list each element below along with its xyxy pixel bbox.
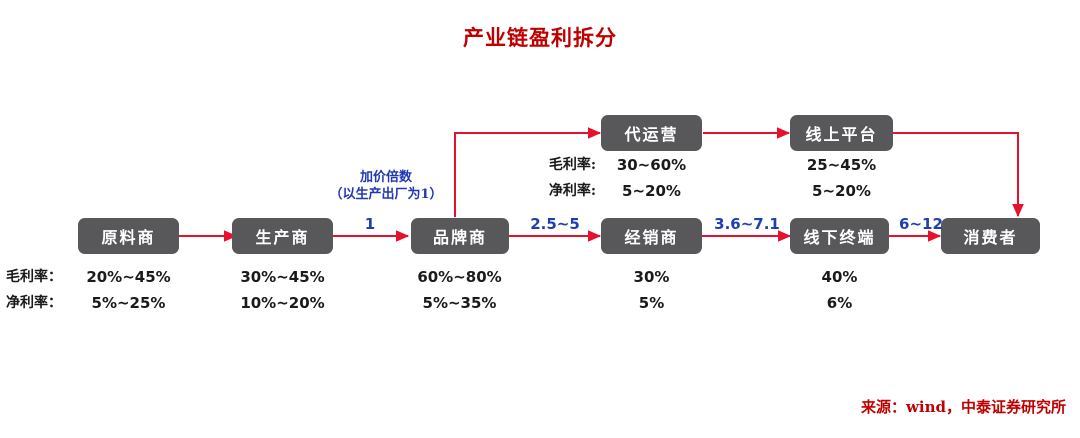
node-raw-material[interactable]: 原料商 (78, 218, 179, 254)
brand-owner-net: 5%~35% (399, 290, 520, 316)
online-platform-gross: 25~45% (781, 152, 902, 178)
page-title: 产业链盈利拆分 (0, 22, 1080, 52)
agency-operator-net: 5~20% (591, 178, 712, 204)
node-distributor-label: 经销商 (624, 224, 678, 248)
node-online-platform[interactable]: 线上平台 (790, 115, 893, 151)
edge-label-brand-to-distributor: 2.5~5 (519, 215, 591, 233)
node-raw-material-label: 原料商 (101, 224, 155, 248)
raw-material-net: 5%~25% (68, 290, 189, 316)
node-offline-terminal[interactable]: 线下终端 (790, 218, 889, 254)
markup-multiple-annotation: 加价倍数 （以生产出厂为1） (312, 169, 460, 203)
manufacturer-net: 10%~20% (222, 290, 343, 316)
node-consumer-label: 消费者 (963, 224, 1017, 248)
edge-label-distributor-to-offline: 3.6~7.1 (706, 215, 788, 233)
metrics-online-platform: 25~45% 5~20% (781, 152, 902, 204)
label-net-margin-branch: 净利率: (508, 178, 596, 204)
raw-material-gross: 20%~45% (68, 264, 189, 290)
metrics-offline-terminal: 40% 6% (779, 264, 900, 316)
annotation-line-1: 加价倍数 (360, 170, 412, 185)
chart-canvas: 产业链盈利拆分 毛利率： 净利率： (0, 0, 1080, 438)
edge-label-offline-to-consumer: 6~12 (895, 215, 947, 233)
offline-terminal-net: 6% (779, 290, 900, 316)
distributor-net: 5% (591, 290, 712, 316)
agency-operator-gross: 30~60% (591, 152, 712, 178)
node-agency-operator[interactable]: 代运营 (601, 115, 702, 151)
node-manufacturer[interactable]: 生产商 (232, 218, 333, 254)
node-distributor[interactable]: 经销商 (601, 218, 702, 254)
node-agency-operator-label: 代运营 (624, 121, 678, 145)
offline-terminal-gross: 40% (779, 264, 900, 290)
brand-owner-gross: 60%~80% (399, 264, 520, 290)
branch-row-labels: 毛利率: 净利率: (508, 152, 596, 204)
edge-online-platform-to-consumer (893, 133, 1018, 216)
distributor-gross: 30% (591, 264, 712, 290)
metrics-manufacturer: 30%~45% 10%~20% (222, 264, 343, 316)
metrics-distributor: 30% 5% (591, 264, 712, 316)
source-note: 来源：wind，中泰证券研究所 (861, 396, 1066, 417)
node-manufacturer-label: 生产商 (255, 224, 309, 248)
annotation-line-2: （以生产出厂为1） (329, 187, 442, 202)
edge-label-manufacturer-to-brand: 1 (344, 215, 396, 233)
node-consumer[interactable]: 消费者 (941, 218, 1040, 254)
online-platform-net: 5~20% (781, 178, 902, 204)
node-online-platform-label: 线上平台 (805, 121, 877, 145)
metrics-raw-material: 20%~45% 5%~25% (68, 264, 189, 316)
node-brand-owner-label: 品牌商 (433, 224, 487, 248)
metrics-brand-owner: 60%~80% 5%~35% (399, 264, 520, 316)
label-gross-margin-branch: 毛利率: (508, 152, 596, 178)
metrics-agency-operator: 30~60% 5~20% (591, 152, 712, 204)
node-brand-owner[interactable]: 品牌商 (411, 218, 509, 254)
node-offline-terminal-label: 线下终端 (803, 224, 875, 248)
manufacturer-gross: 30%~45% (222, 264, 343, 290)
